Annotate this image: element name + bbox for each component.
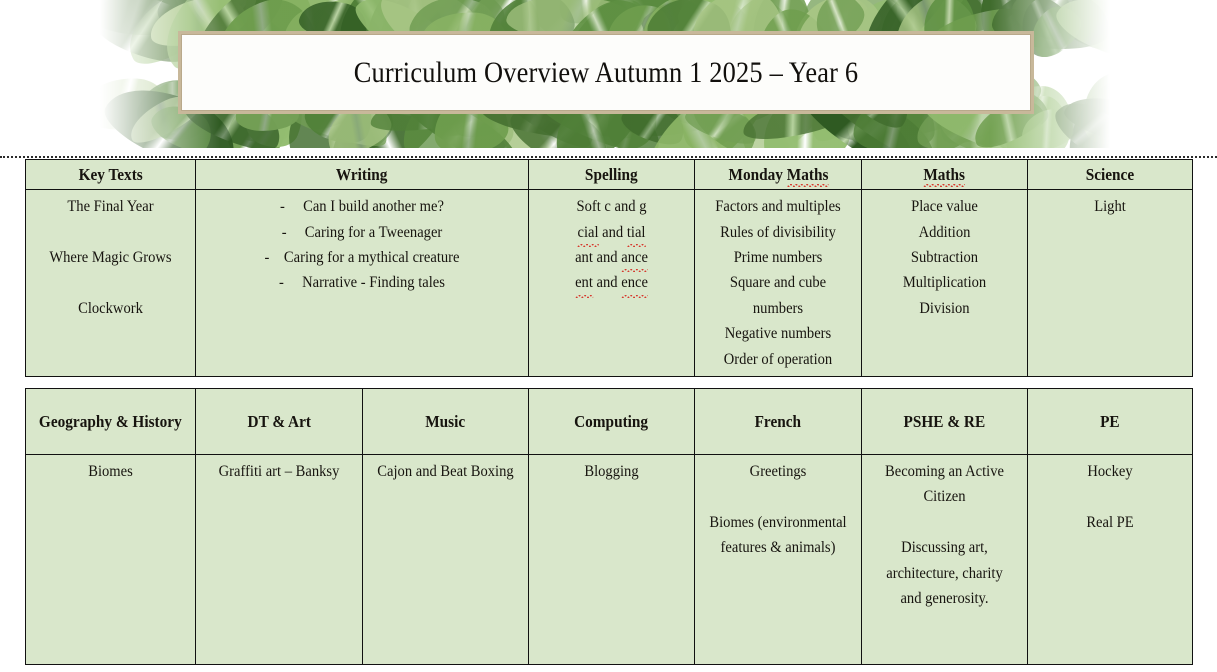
cell-french: GreetingsBiomes (environmentalfeatures &… — [695, 455, 862, 665]
spellcheck-word: Maths — [786, 164, 828, 185]
cell-dt-art: Graffiti art – Banksy — [196, 455, 363, 665]
cell-line: Graffiti art – Banksy — [206, 459, 353, 484]
cell-line: Clockwork — [36, 296, 185, 321]
curriculum-table-bottom: Geography & HistoryDT & ArtMusicComputin… — [25, 388, 1193, 665]
cell-science: Light — [1028, 190, 1193, 377]
column-header-pe: PE — [1028, 389, 1193, 455]
cell-line: Greetings — [705, 459, 852, 484]
table-row-headers-bottom: Geography & HistoryDT & ArtMusicComputin… — [26, 389, 1193, 455]
cell-line: Hockey — [1038, 459, 1183, 484]
cell-maths: Place valueAdditionSubtractionMultiplica… — [862, 190, 1028, 377]
cell-line: and generosity. — [872, 586, 1018, 611]
cell-line: Division — [872, 296, 1018, 321]
cell-line: Where Magic Grows — [36, 245, 185, 270]
writing-bullet: - Caring for a mythical creature — [211, 245, 514, 270]
column-header-geography-and-history: Geography & History — [26, 389, 196, 455]
cell-line: Prime numbers — [705, 245, 852, 270]
cell-geography-history: Biomes — [26, 455, 196, 665]
cell-line: Citizen — [872, 484, 1018, 509]
column-header-computing: Computing — [529, 389, 695, 455]
cell-line: Multiplication — [872, 270, 1018, 295]
column-header-pshe-and-re: PSHE & RE — [862, 389, 1028, 455]
cell-line: Factors and multiples — [705, 194, 852, 219]
page-title: Curriculum Overview Autumn 1 2025 – Year… — [232, 34, 980, 111]
title-banner: Curriculum Overview Autumn 1 2025 – Year… — [178, 31, 1034, 114]
spacer-line — [1033, 484, 1187, 509]
column-header-maths: Maths — [862, 160, 1028, 190]
column-header-dt-and-art: DT & Art — [196, 389, 363, 455]
writing-bullet: - Can I build another me? — [211, 194, 514, 219]
cell-pshe-re: Becoming an ActiveCitizenDiscussing art,… — [862, 455, 1028, 665]
spellcheck-word: tial — [627, 220, 646, 245]
spacer-line — [31, 270, 190, 295]
cell-line: Biomes — [36, 459, 185, 484]
cell-line: Discussing art, — [872, 535, 1018, 560]
cell-line: Cajon and Beat Boxing — [373, 459, 519, 484]
spacer-line — [700, 484, 856, 509]
cell-line: Becoming an Active — [872, 459, 1018, 484]
spellcheck-word: ance — [621, 245, 648, 270]
cell-writing: - Can I build another me?- Caring for a … — [196, 190, 529, 377]
cell-line: numbers — [705, 296, 852, 321]
cell-line: The Final Year — [36, 194, 185, 219]
column-header-spelling: Spelling — [529, 160, 695, 190]
curriculum-table-top: Key TextsWritingSpellingMonday MathsMath… — [25, 159, 1193, 377]
cell-line: ent and ence — [539, 270, 685, 295]
table-row-content-bottom: BiomesGraffiti art – BanksyCajon and Bea… — [26, 455, 1193, 665]
spellcheck-word: ence — [621, 270, 648, 295]
table-row-headers-top: Key TextsWritingSpellingMonday MathsMath… — [26, 160, 1193, 190]
cell-line: Subtraction — [872, 245, 1018, 270]
cell-line: Rules of divisibility — [705, 220, 852, 245]
spellcheck-word: ent — [575, 270, 593, 295]
cell-spelling: Soft c and gcial and tialant and anceent… — [529, 190, 695, 377]
cell-line: Square and cube — [705, 270, 852, 295]
spacer-line — [31, 220, 190, 245]
spacer-line — [867, 510, 1022, 535]
column-header-key-texts: Key Texts — [26, 160, 196, 190]
cell-line: Real PE — [1038, 510, 1183, 535]
table-row-content-top: The Final YearWhere Magic GrowsClockwork… — [26, 190, 1193, 377]
header-banner: Curriculum Overview Autumn 1 2025 – Year… — [0, 0, 1217, 152]
cell-line: ant and ance — [539, 245, 685, 270]
cell-line: Biomes (environmental — [705, 510, 852, 535]
cell-music: Cajon and Beat Boxing — [363, 455, 529, 665]
column-header-science: Science — [1028, 160, 1193, 190]
cell-line: architecture, charity — [872, 561, 1018, 586]
cell-line: Negative numbers — [705, 321, 852, 346]
cell-line: Blogging — [539, 459, 685, 484]
spellcheck-word: cial — [577, 220, 598, 245]
curriculum-overview-page: Curriculum Overview Autumn 1 2025 – Year… — [0, 0, 1217, 672]
cell-line: Soft c and g — [539, 194, 685, 219]
cell-line: features & animals) — [705, 535, 852, 560]
column-header-writing: Writing — [196, 160, 529, 190]
page-break-indicator — [0, 156, 1217, 158]
cell-line: Order of operation — [705, 347, 852, 372]
cell-monday-maths: Factors and multiplesRules of divisibili… — [695, 190, 862, 377]
cell-line: cial and tial — [539, 220, 685, 245]
column-header-french: French — [695, 389, 862, 455]
writing-bullet: - Narrative - Finding tales — [211, 270, 514, 295]
cell-line: Place value — [872, 194, 1018, 219]
cell-line: Addition — [872, 220, 1018, 245]
cell-computing: Blogging — [529, 455, 695, 665]
cell-pe: HockeyReal PE — [1028, 455, 1193, 665]
column-header-monday-maths: Monday Maths — [695, 160, 862, 190]
cell-key-texts: The Final YearWhere Magic GrowsClockwork — [26, 190, 196, 377]
cell-line: Light — [1038, 194, 1183, 219]
spellcheck-word: Maths — [924, 164, 966, 185]
column-header-music: Music — [363, 389, 529, 455]
writing-bullet: - Caring for a Tweenager — [211, 220, 514, 245]
